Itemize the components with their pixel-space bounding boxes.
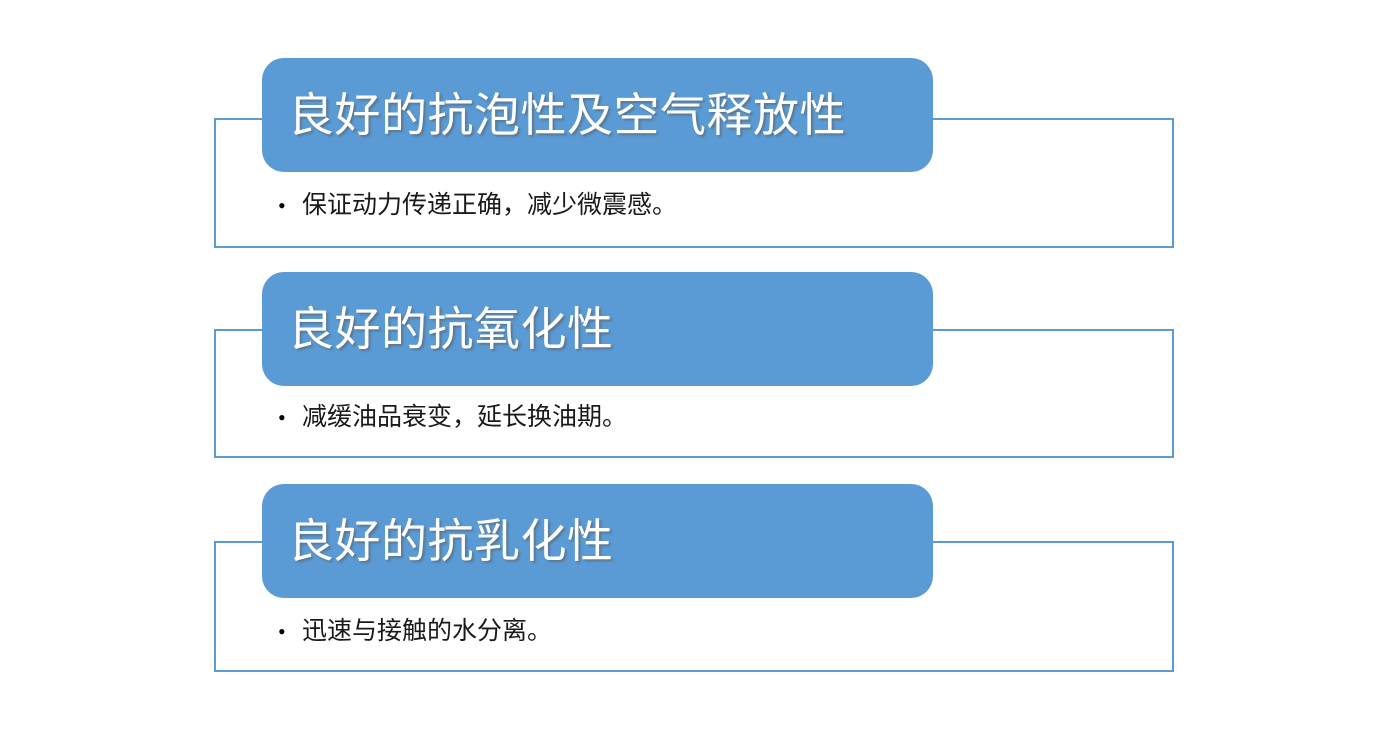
bullet-icon: • (278, 407, 302, 429)
feature-block-1-header[interactable]: 良好的抗泡性及空气释放性 (262, 58, 933, 172)
bullet-icon: • (278, 195, 302, 217)
feature-block-3-body: • 迅速与接触的水分离。 (278, 616, 1154, 647)
bullet-icon: • (278, 621, 302, 643)
feature-block-1[interactable]: 良好的抗泡性及空气释放性 • 保证动力传递正确，减少微震感。 (214, 58, 1174, 258)
slide-canvas: 良好的抗泡性及空气释放性 • 保证动力传递正确，减少微震感。 良好的抗氧化性 •… (0, 0, 1373, 732)
list-item: • 迅速与接触的水分离。 (278, 616, 1154, 647)
list-item: • 保证动力传递正确，减少微震感。 (278, 190, 1154, 221)
feature-block-2-title: 良好的抗氧化性 (288, 305, 614, 353)
feature-block-3-header[interactable]: 良好的抗乳化性 (262, 484, 933, 598)
feature-block-3[interactable]: 良好的抗乳化性 • 迅速与接触的水分离。 (214, 484, 1174, 684)
feature-block-1-body: • 保证动力传递正确，减少微震感。 (278, 190, 1154, 221)
feature-block-2-body: • 减缓油品衰变，延长换油期。 (278, 402, 1154, 433)
list-item: • 减缓油品衰变，延长换油期。 (278, 402, 1154, 433)
feature-block-3-title: 良好的抗乳化性 (288, 517, 614, 565)
feature-block-2-header[interactable]: 良好的抗氧化性 (262, 272, 933, 386)
feature-block-2[interactable]: 良好的抗氧化性 • 减缓油品衰变，延长换油期。 (214, 272, 1174, 472)
feature-block-3-bullet-1: 迅速与接触的水分离。 (302, 616, 1154, 647)
feature-block-1-bullet-1: 保证动力传递正确，减少微震感。 (302, 190, 1154, 221)
feature-block-2-bullet-1: 减缓油品衰变，延长换油期。 (302, 402, 1154, 433)
feature-block-1-title: 良好的抗泡性及空气释放性 (288, 91, 846, 139)
